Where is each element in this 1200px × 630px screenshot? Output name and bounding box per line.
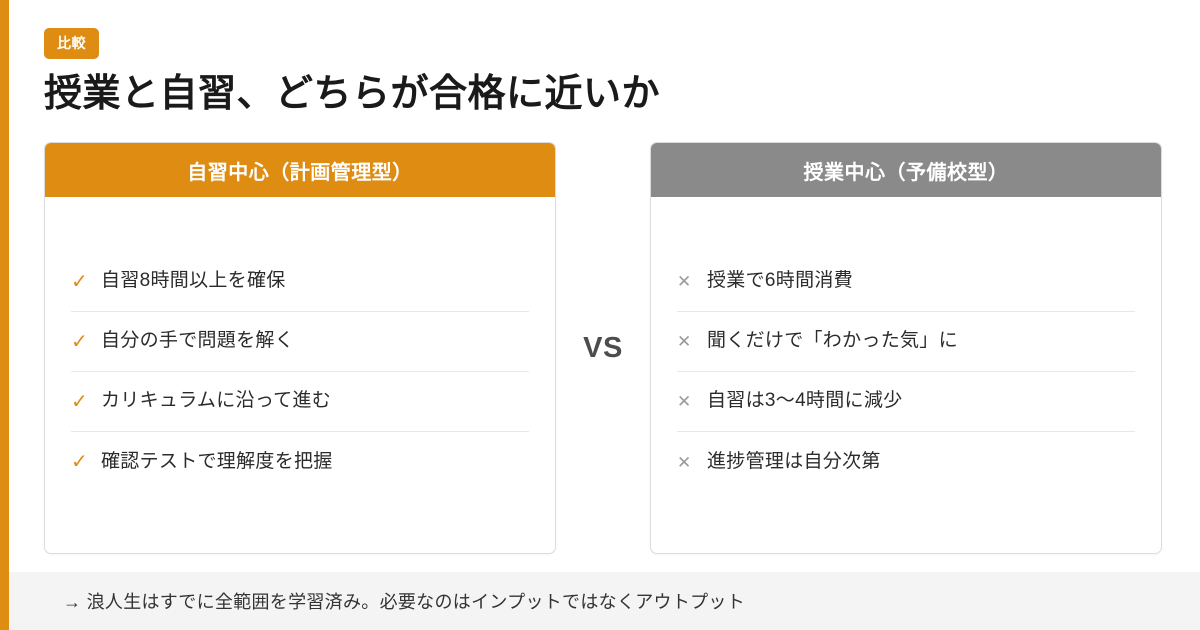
- footer-note: → 浪人生はすでに全範囲を学習済み。必要なのはインプットではなくアウトプット: [63, 588, 745, 614]
- list-item-label: 確認テストで理解度を把握: [101, 450, 333, 475]
- check-icon: ✓: [71, 332, 101, 352]
- list-item-label: 授業で6時間消費: [707, 269, 853, 294]
- card-lecture: 授業中心（予備校型） ✕ 授業で6時間消費 ✕ 聞くだけで「わかった気」に ✕ …: [650, 142, 1162, 554]
- self-study-item-list: ✓ 自習8時間以上を確保 ✓ 自分の手で問題を解く ✓ カリキュラムに沿って進む…: [71, 252, 529, 492]
- cross-icon: ✕: [677, 393, 707, 410]
- list-item: ✓ 自習8時間以上を確保: [71, 252, 529, 312]
- card-self-study-body: ✓ 自習8時間以上を確保 ✓ 自分の手で問題を解く ✓ カリキュラムに沿って進む…: [45, 197, 555, 553]
- slide-header: 比較 授業と自習、どちらが合格に近いか: [44, 28, 1154, 117]
- list-item-label: 聞くだけで「わかった気」に: [707, 329, 958, 354]
- vs-divider: VS: [556, 142, 650, 554]
- list-item: ✕ 聞くだけで「わかった気」に: [677, 312, 1135, 372]
- check-icon: ✓: [71, 392, 101, 412]
- slide-root: 比較 授業と自習、どちらが合格に近いか 自習中心（計画管理型） ✓ 自習8時間以…: [0, 0, 1200, 630]
- cross-icon: ✕: [677, 454, 707, 471]
- card-self-study: 自習中心（計画管理型） ✓ 自習8時間以上を確保 ✓ 自分の手で問題を解く ✓ …: [44, 142, 556, 554]
- card-lecture-body: ✕ 授業で6時間消費 ✕ 聞くだけで「わかった気」に ✕ 自習は3〜4時間に減少…: [651, 197, 1161, 553]
- check-icon: ✓: [71, 452, 101, 472]
- list-item-label: カリキュラムに沿って進む: [101, 389, 331, 414]
- card-self-study-heading: 自習中心（計画管理型）: [45, 143, 555, 197]
- lecture-item-list: ✕ 授業で6時間消費 ✕ 聞くだけで「わかった気」に ✕ 自習は3〜4時間に減少…: [677, 252, 1135, 492]
- footer-note-bar: → 浪人生はすでに全範囲を学習済み。必要なのはインプットではなくアウトプット: [0, 572, 1200, 630]
- list-item-label: 自習は3〜4時間に減少: [707, 389, 902, 414]
- left-accent-bar: [0, 0, 9, 630]
- list-item: ✕ 授業で6時間消費: [677, 252, 1135, 312]
- check-icon: ✓: [71, 272, 101, 292]
- page-title: 授業と自習、どちらが合格に近いか: [44, 73, 1154, 117]
- vs-label: VS: [583, 332, 623, 365]
- list-item-label: 進捗管理は自分次第: [707, 450, 881, 475]
- list-item: ✕ 進捗管理は自分次第: [677, 432, 1135, 492]
- list-item: ✕ 自習は3〜4時間に減少: [677, 372, 1135, 432]
- list-item: ✓ 自分の手で問題を解く: [71, 312, 529, 372]
- cross-icon: ✕: [677, 333, 707, 350]
- card-lecture-heading: 授業中心（予備校型）: [651, 143, 1161, 197]
- list-item: ✓ 確認テストで理解度を把握: [71, 432, 529, 492]
- list-item-label: 自習8時間以上を確保: [101, 269, 286, 294]
- category-badge: 比較: [44, 28, 99, 59]
- cross-icon: ✕: [677, 273, 707, 290]
- comparison-section: 自習中心（計画管理型） ✓ 自習8時間以上を確保 ✓ 自分の手で問題を解く ✓ …: [44, 142, 1162, 554]
- list-item-label: 自分の手で問題を解く: [101, 329, 294, 354]
- list-item: ✓ カリキュラムに沿って進む: [71, 372, 529, 432]
